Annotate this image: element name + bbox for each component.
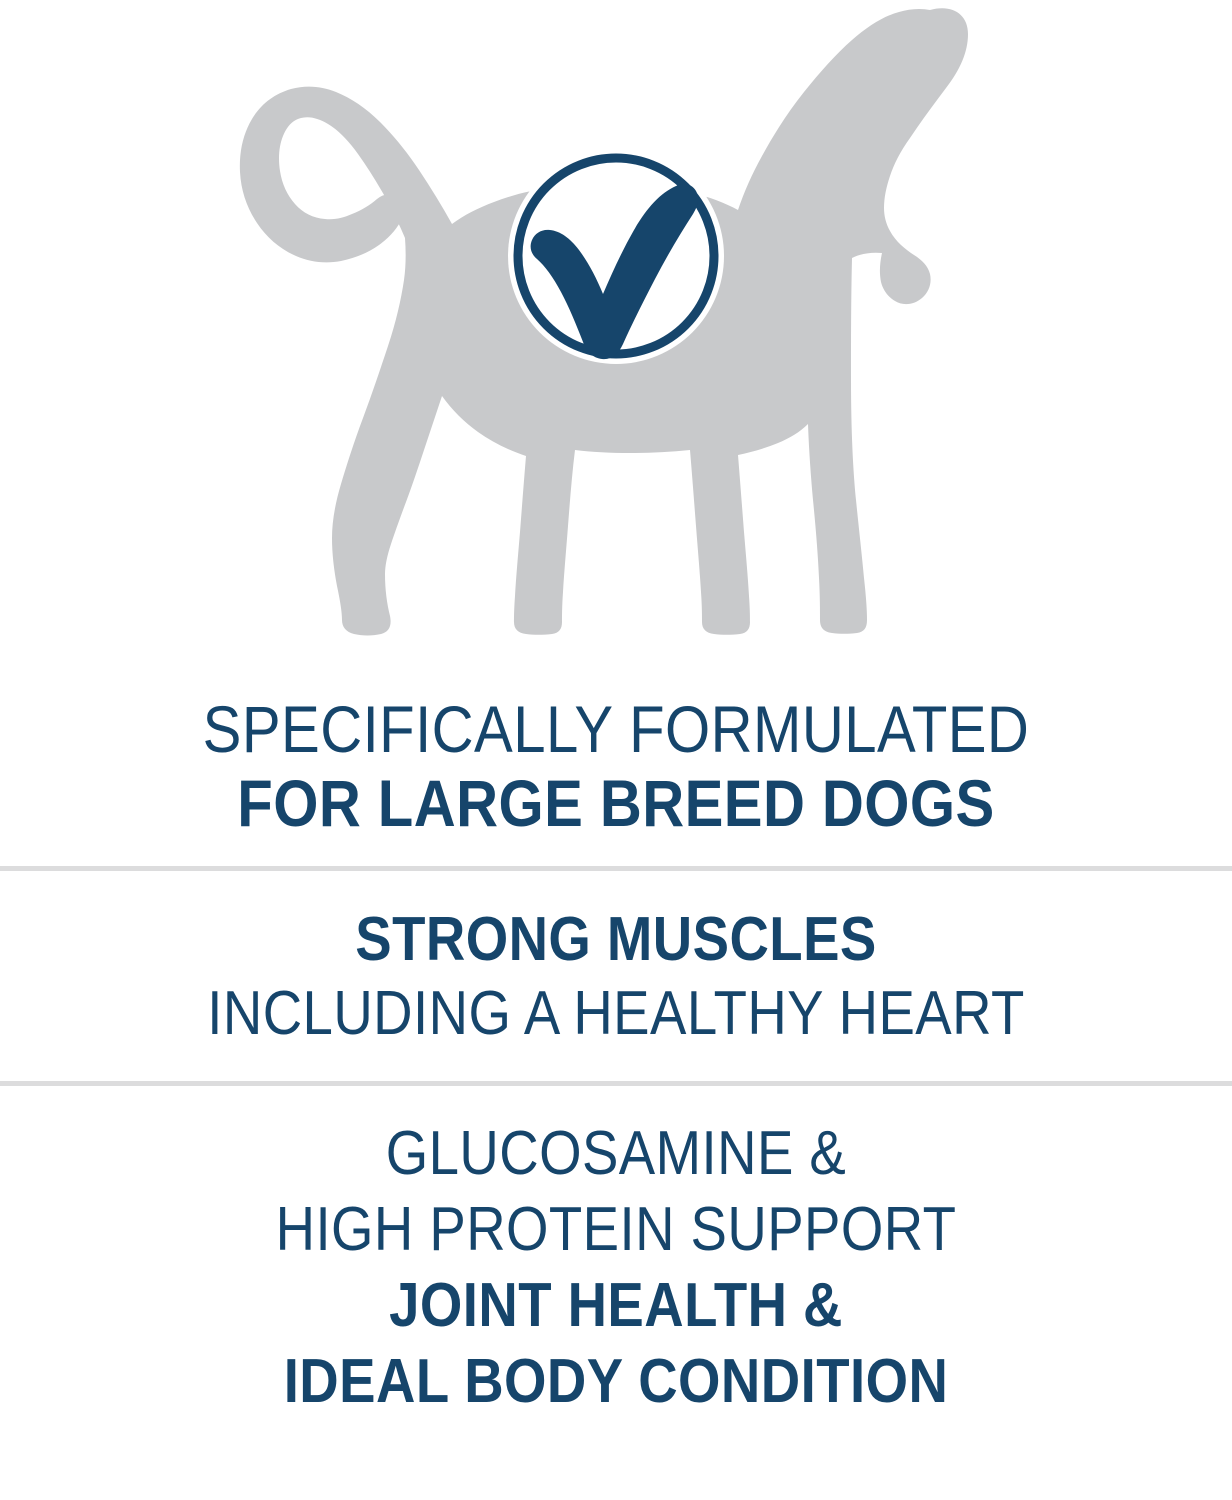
feature-1-line-2: FOR LARGE BREED DOGS <box>74 766 1158 840</box>
feature-3-line-1: GLUCOSAMINE & <box>74 1116 1158 1192</box>
feature-2-line-1: STRONG MUSCLES <box>74 903 1158 977</box>
feature-1-line-1: SPECIFICALLY FORMULATED <box>74 692 1158 766</box>
feature-specifically-formulated: SPECIFICALLY FORMULATED FOR LARGE BREED … <box>0 668 1232 866</box>
checkmark-circle-icon <box>508 148 724 364</box>
feature-3-line-2: HIGH PROTEIN SUPPORT <box>74 1192 1158 1268</box>
feature-glucosamine-joint-health: GLUCOSAMINE & HIGH PROTEIN SUPPORT JOINT… <box>0 1086 1232 1428</box>
feature-strong-muscles: STRONG MUSCLES INCLUDING A HEALTHY HEART <box>0 871 1232 1081</box>
product-benefits-panel: SPECIFICALLY FORMULATED FOR LARGE BREED … <box>0 0 1232 1500</box>
feature-list: SPECIFICALLY FORMULATED FOR LARGE BREED … <box>0 668 1232 1428</box>
feature-3-line-3: JOINT HEALTH & <box>74 1268 1158 1344</box>
hero-illustration <box>0 0 1232 668</box>
feature-3-line-4: IDEAL BODY CONDITION <box>74 1344 1158 1420</box>
feature-2-line-2: INCLUDING A HEALTHY HEART <box>74 977 1158 1051</box>
